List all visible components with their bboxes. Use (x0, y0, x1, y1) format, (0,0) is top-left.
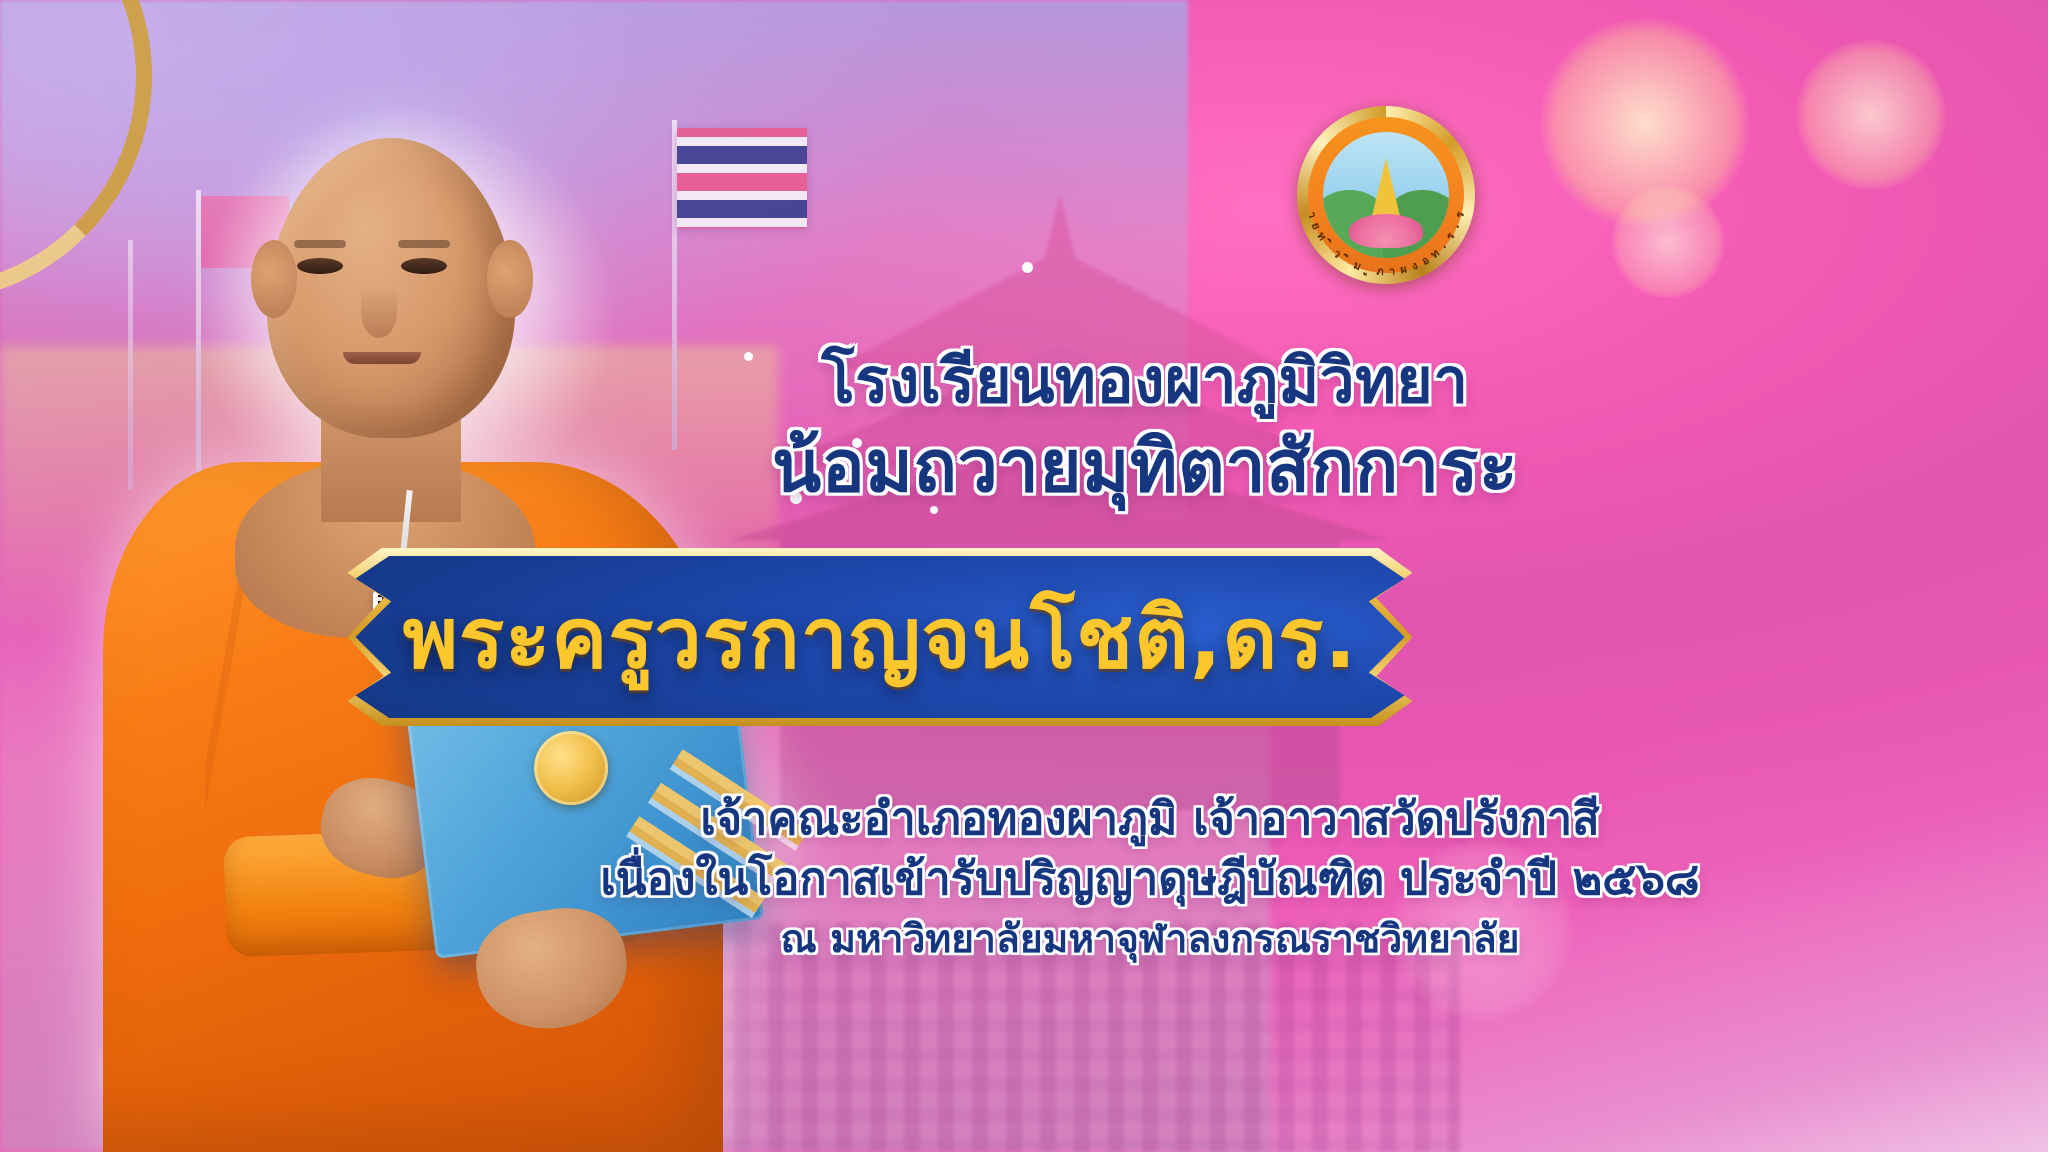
diploma-gold-seal (530, 727, 612, 809)
honoree-name-text: พระครูวรกาญจนโชติ,ดร. (348, 548, 1413, 726)
banner-canvas: ร.ร.ทองผาภูมิวิทยา โรงเรียนทองผาภูมิวิทย… (0, 0, 2048, 1152)
monk-nose (361, 286, 397, 338)
emblem-arc-char: า (1303, 209, 1322, 220)
emblem-arc-char: ภ (1376, 262, 1385, 281)
subtitle-university-line: ณ มหาวิทยาลัยมหาจุฬาลงกรณราชวิทยาลัย (780, 908, 1519, 970)
emblem-arc-char: า (1388, 262, 1396, 280)
school-emblem-logo: ร.ร.ทองผาภูมิวิทยา (1297, 106, 1475, 284)
emblem-arc-text: ร.ร.ทองผาภูมิวิทยา (1301, 110, 1471, 280)
monk-mouth (343, 352, 421, 364)
monk-brow-left (294, 240, 346, 248)
monk-brow-right (398, 240, 450, 248)
emblem-arc-char: ง (1409, 256, 1421, 275)
monk-ear-right (487, 240, 533, 318)
emblem-arc-char: ู (1367, 260, 1371, 278)
headline-tribute: น้อมถวายมุทิตาสักการะ (772, 408, 1518, 523)
emblem-arc-char: ร (1450, 209, 1469, 219)
emblem-arc-char: ร (1441, 229, 1459, 244)
monk-eye-left (297, 258, 343, 274)
monk-eye-right (401, 258, 447, 274)
subtitle-occasion-line: เนื่องในโอกาสเข้ารับปริญญาดุษฎีบัณฑิต ปร… (600, 842, 1699, 914)
emblem-arc-char: ิ (1342, 253, 1351, 268)
honoree-name-banner: พระครูวรกาญจนโชติ,ดร. (348, 548, 1413, 726)
emblem-arc-char: . (1437, 239, 1450, 251)
emblem-arc-char: ท (1312, 228, 1331, 244)
emblem-arc-char: ว (1329, 245, 1345, 263)
emblem-arc-char: ผ (1398, 259, 1408, 278)
emblem-arc-char: ิ (1322, 239, 1335, 251)
emblem-arc-char: ม (1351, 256, 1364, 275)
monk-ear-left (251, 240, 297, 318)
emblem-arc-char: . (1449, 221, 1463, 230)
